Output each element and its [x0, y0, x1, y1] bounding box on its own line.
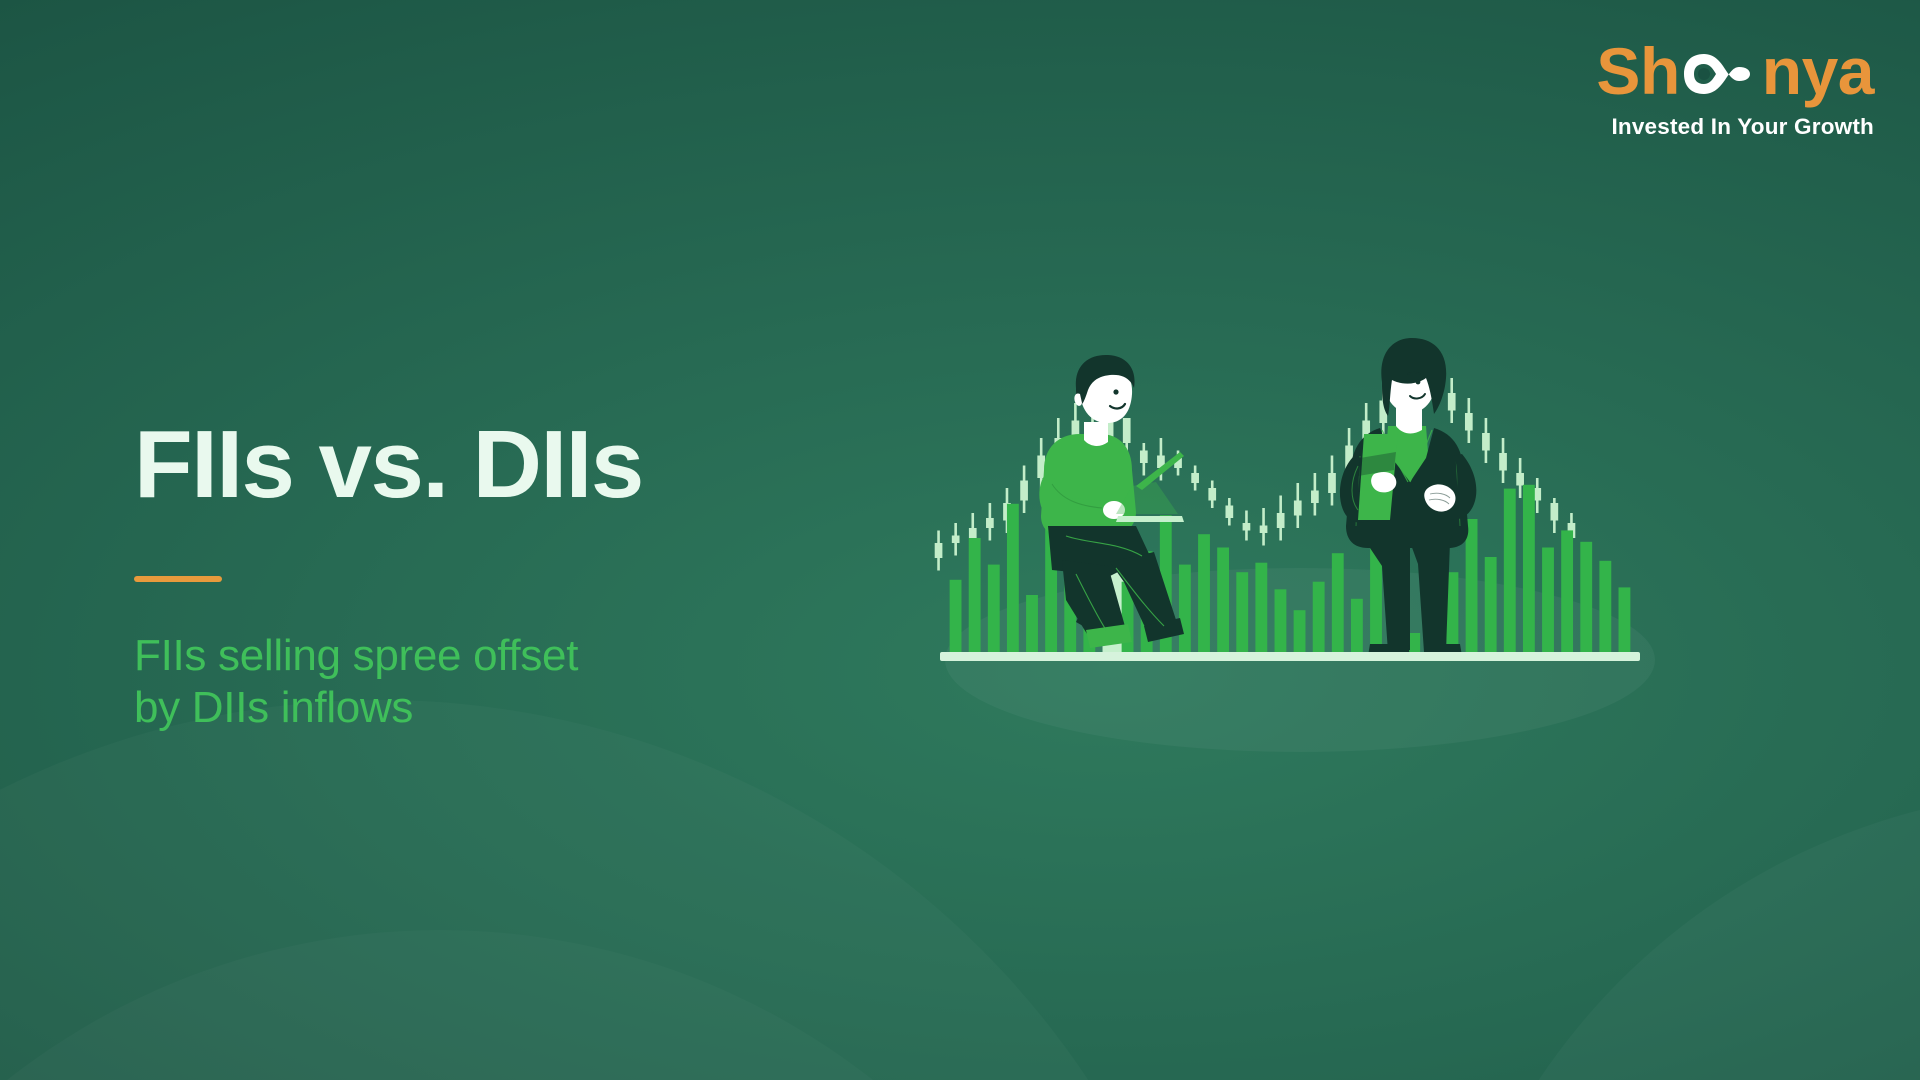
bar: [1179, 565, 1191, 652]
candle-body: [1448, 393, 1456, 411]
logo-wordmark: Sh nya: [1596, 38, 1874, 104]
candle-body: [1020, 481, 1028, 501]
bar: [1332, 553, 1344, 652]
candle-body: [1277, 513, 1285, 528]
candle-body: [969, 528, 977, 538]
candle-body: [1260, 526, 1268, 534]
candle-body: [1140, 451, 1148, 464]
bar: [1580, 542, 1592, 652]
logo-text-prefix: Sh: [1596, 38, 1679, 104]
bar: [1408, 633, 1420, 652]
candle-body: [1499, 453, 1507, 471]
bar: [1466, 519, 1478, 652]
decorative-arc-bottom-left-2: [0, 930, 1140, 1080]
candle-body: [1208, 488, 1216, 501]
logo-text-suffix: nya: [1762, 38, 1874, 104]
logo-tagline: Invested In Your Growth: [1596, 116, 1874, 139]
brand-logo[interactable]: Sh nya Invested In Your Growth: [1596, 38, 1874, 139]
bar: [1313, 582, 1325, 652]
bar: [1026, 595, 1038, 652]
bar: [1599, 561, 1611, 652]
candle-body: [1311, 491, 1319, 504]
bar: [1561, 530, 1573, 652]
candle-body: [1294, 501, 1302, 516]
candle-body: [952, 536, 960, 544]
decorative-arc-bottom-right: [1430, 790, 1920, 1080]
bar: [950, 580, 962, 652]
candle-body: [1191, 473, 1199, 483]
candlestick-chart: [935, 356, 1576, 571]
chart-baseline: [940, 652, 1640, 661]
page-subtitle: FIIs selling spree offset by DIIs inflow…: [134, 630, 894, 734]
subtitle-line-1: FIIs selling spree offset: [134, 630, 894, 682]
bar: [1619, 587, 1631, 652]
candle-body: [1465, 413, 1473, 431]
market-illustration: [940, 330, 1640, 770]
bar: [1542, 548, 1554, 653]
candle-body: [1225, 506, 1233, 519]
candle-body: [935, 543, 943, 558]
poster-canvas: Sh nya Invested In Your Growth FIIs vs. …: [0, 0, 1920, 1080]
bar: [1217, 548, 1229, 653]
candle-body: [1123, 418, 1131, 443]
bar: [1351, 599, 1363, 652]
candle-body: [1516, 473, 1524, 486]
infinity-icon: [1682, 42, 1760, 108]
bar: [1485, 557, 1497, 652]
candle-body: [1550, 503, 1558, 521]
subtitle-line-2: by DIIs inflows: [134, 682, 894, 734]
bar: [988, 565, 1000, 652]
bar: [1523, 485, 1535, 652]
headline-block: FIIs vs. DIIs FIIs selling spree offset …: [134, 415, 894, 734]
page-title: FIIs vs. DIIs: [134, 415, 894, 516]
accent-divider: [134, 576, 222, 582]
bar: [1198, 534, 1210, 652]
bar: [1255, 563, 1267, 652]
bar: [1007, 504, 1019, 652]
bar: [969, 538, 981, 652]
candle-body: [1482, 433, 1490, 451]
bar: [1275, 589, 1287, 652]
bar: [1294, 610, 1306, 652]
candle-body: [1328, 473, 1336, 493]
candle-body: [986, 518, 994, 528]
candle-body: [1243, 523, 1251, 531]
bar: [1236, 572, 1248, 652]
bar: [1504, 489, 1516, 652]
